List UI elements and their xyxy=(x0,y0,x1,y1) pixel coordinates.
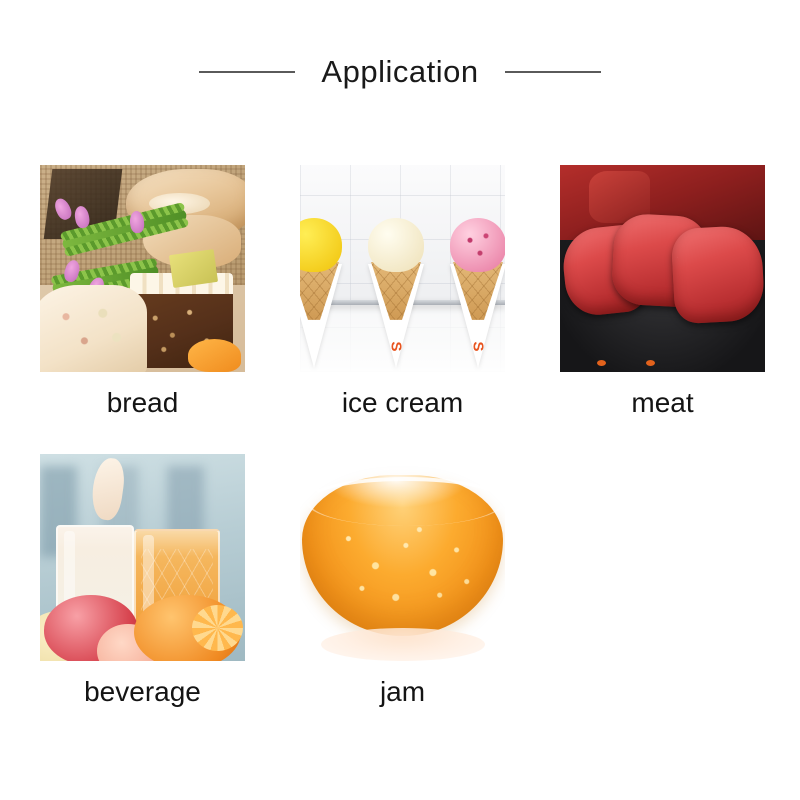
caption-jam: jam xyxy=(300,677,505,713)
application-card-bread[interactable]: bread xyxy=(40,165,245,424)
title-rule-left xyxy=(199,71,295,73)
ice-cream-image: S S xyxy=(300,165,505,372)
meat-cut xyxy=(670,225,765,325)
bread-slices xyxy=(40,285,147,372)
jam-image xyxy=(300,454,505,661)
caption-bread: bread xyxy=(40,388,245,424)
spice-speck xyxy=(646,360,655,366)
ice-cream-scoop xyxy=(450,218,505,272)
application-card-ice-cream[interactable]: S S ice cream xyxy=(300,165,505,424)
application-card-jam[interactable]: jam xyxy=(300,454,505,713)
application-card-meat[interactable]: meat xyxy=(560,165,765,424)
page-header: Application xyxy=(0,56,800,87)
ice-cream-scoop xyxy=(368,218,424,272)
surface-gloss xyxy=(325,462,469,508)
page-title: Application xyxy=(321,56,478,87)
brand-logo-icon: S xyxy=(389,341,404,351)
bread-image xyxy=(40,165,245,372)
fruit-fan-garnish xyxy=(130,454,186,510)
caption-beverage: beverage xyxy=(40,677,245,713)
cheese-cube xyxy=(169,249,218,288)
application-card-beverage[interactable]: beverage xyxy=(40,454,245,713)
caption-ice-cream: ice cream xyxy=(300,388,505,424)
brand-logo-icon: S xyxy=(471,341,486,351)
orange-wedge xyxy=(188,339,241,372)
application-grid: bread S S ice cr xyxy=(40,165,766,713)
title-rule-right xyxy=(505,71,601,73)
bowl-base-reflection xyxy=(321,628,485,661)
beverage-image xyxy=(40,454,245,661)
caption-meat: meat xyxy=(560,388,765,424)
orange-fruit xyxy=(134,595,241,661)
spice-speck xyxy=(597,360,606,366)
meat-image xyxy=(560,165,765,372)
